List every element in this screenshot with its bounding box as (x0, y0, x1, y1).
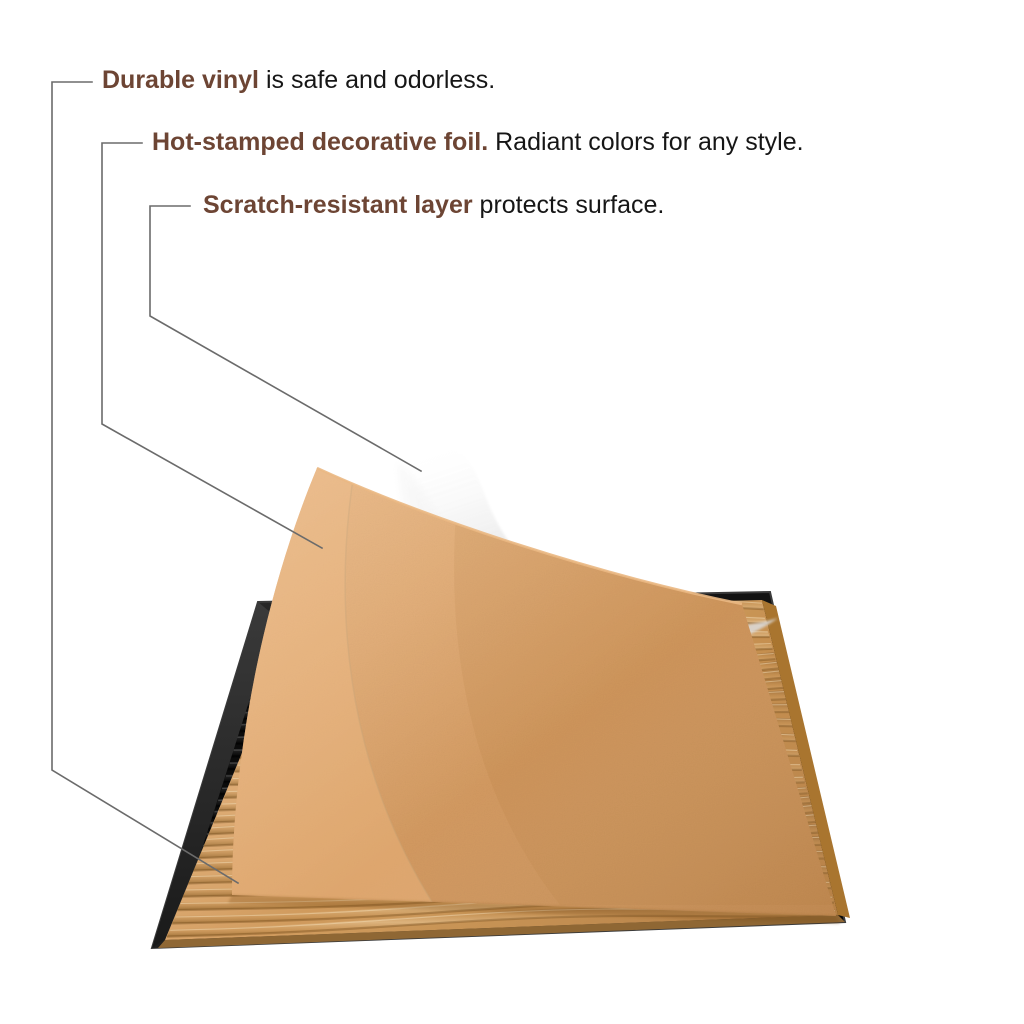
callout-hot-stamped-foil: Hot-stamped decorative foil. Radiant col… (152, 130, 804, 155)
callout-lead-text: Scratch-resistant layer (203, 191, 473, 219)
translucent-film-layer (398, 445, 778, 671)
callout-scratch-resistant-layer: Scratch-resistant layer protects surface… (203, 193, 664, 218)
tan-ridged-panel (150, 580, 850, 960)
leader-line-scratch-resistant-layer (150, 206, 421, 471)
callout-lead-text: Durable vinyl (102, 66, 259, 94)
callout-durable-vinyl: Durable vinyl is safe and odorless. (102, 68, 495, 93)
peeling-vinyl-sheet (220, 440, 880, 940)
diagram-canvas: Durable vinyl is safe and odorless. Hot-… (0, 0, 1024, 1024)
tan-panel-ribs (150, 580, 850, 960)
callout-rest-text: protects surface. (473, 191, 665, 219)
black-base-layer (152, 592, 845, 948)
black-base-ribs (178, 605, 826, 927)
callout-rest-text: Radiant colors for any style. (488, 128, 803, 156)
callout-rest-text: is safe and odorless. (259, 66, 495, 94)
callout-lead-text: Hot-stamped decorative foil. (152, 128, 488, 156)
